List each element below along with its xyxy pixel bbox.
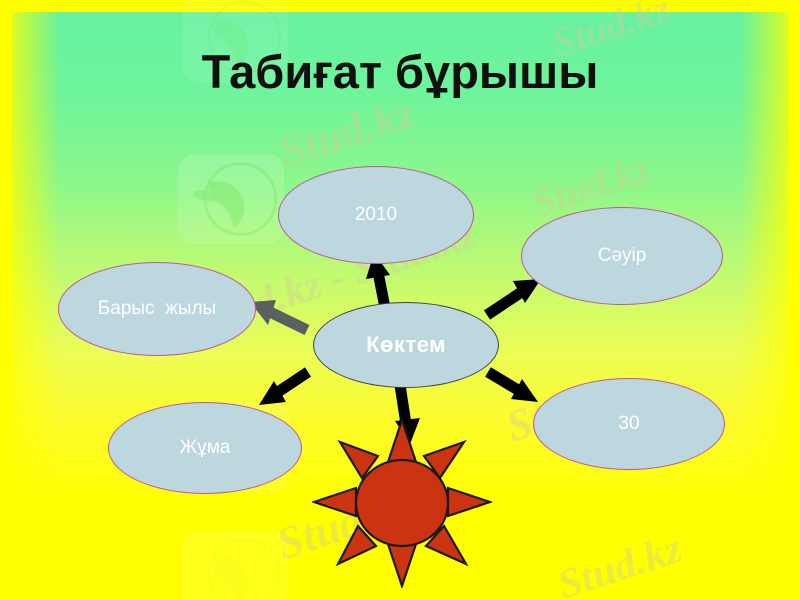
node-label: Көктем — [366, 332, 446, 358]
node-koktem-center[interactable]: Көктем — [313, 302, 499, 388]
node-label: Сәуір — [598, 245, 647, 267]
node-zhuma[interactable]: Жұма — [108, 402, 302, 494]
node-label: Барыс жылы — [98, 298, 216, 320]
node-30[interactable]: 30 — [533, 378, 725, 470]
node-barys-zhyly[interactable]: Барыс жылы — [58, 262, 256, 356]
node-sauir[interactable]: Сәуір — [521, 207, 723, 305]
node-label: 2010 — [355, 204, 397, 226]
sun-icon — [312, 418, 492, 588]
node-2010[interactable]: 2010 — [278, 166, 474, 264]
node-label: 30 — [618, 413, 639, 435]
page-title: Табиғат бұрышы — [0, 44, 800, 99]
slide-canvas: Stud.kz Stud.kz Stud.kz - Stud.kz Stud.k… — [0, 0, 800, 600]
node-label: Жұма — [180, 437, 231, 459]
